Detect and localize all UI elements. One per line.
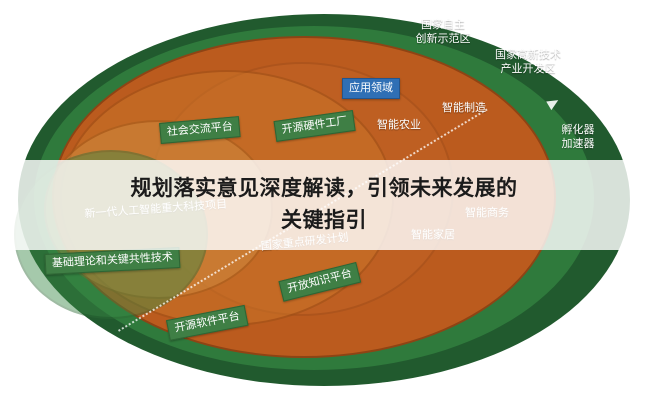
node-zhineng-zhizao: 智能制造: [424, 101, 504, 115]
node-gaoxin: 国家高新技术 产业开发区: [478, 48, 578, 76]
overlay-title: 规划落实意见深度解读，引领未来发展的 关键指引: [131, 173, 518, 237]
overlay-title-line1: 规划落实意见深度解读，引领未来发展的: [131, 173, 518, 205]
overlay-title-line2: 关键指引: [131, 205, 518, 237]
node-fuhuaqi: 孵化器 加速器: [550, 123, 606, 151]
diagram-canvas: 国家自主 创新示范区 国家高新技术 产业开发区 智能制造 智能农业 孵化器 加速…: [0, 0, 648, 400]
node-guojia-zizhu: 国家自主 创新示范区: [398, 18, 488, 46]
chip-yingyong-lingyu[interactable]: 应用领域: [342, 78, 400, 99]
title-overlay-banner: 规划落实意见深度解读，引领未来发展的 关键指引: [0, 160, 648, 250]
node-zhineng-nongye: 智能农业: [364, 118, 434, 132]
